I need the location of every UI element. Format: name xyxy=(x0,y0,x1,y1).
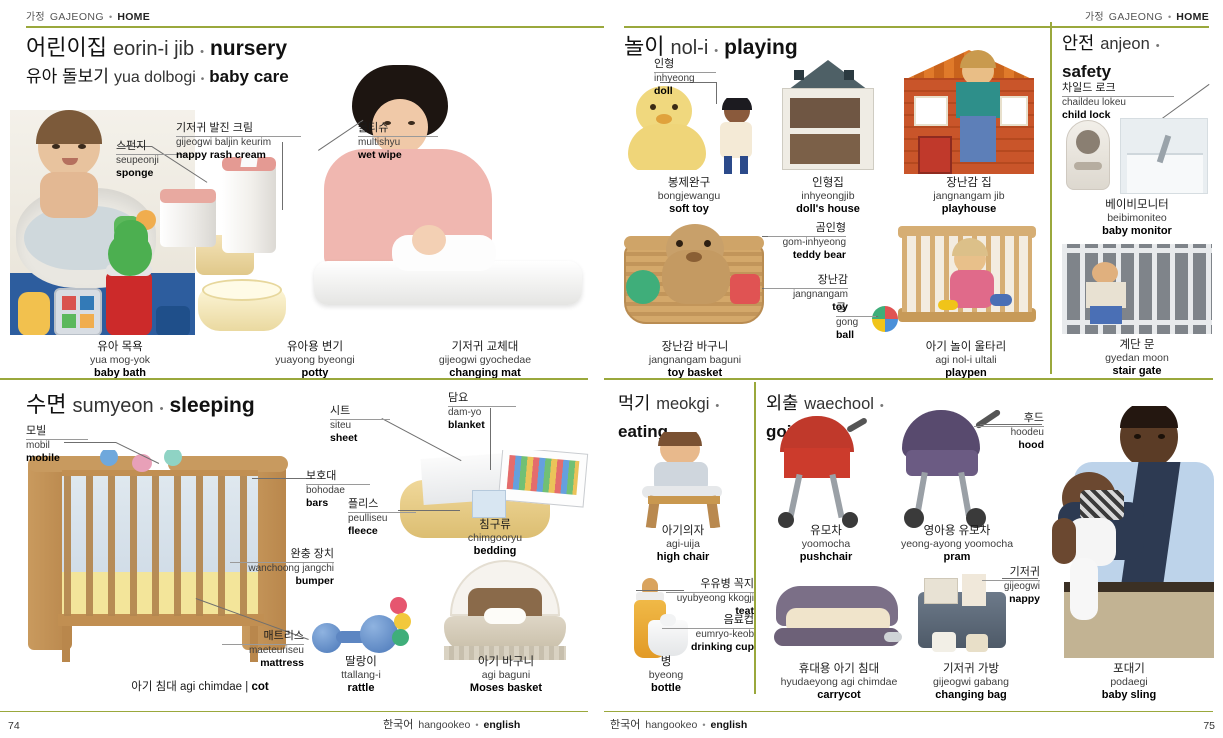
footer-left-bullet: • xyxy=(475,720,478,730)
lead-doll-korean: 인형 xyxy=(654,58,716,73)
sleeping-title-english: sleeping xyxy=(170,394,255,419)
high-chair-photo xyxy=(632,432,740,528)
dolls-house-photo xyxy=(774,60,882,172)
caption-baby-sling-romanization: podaegi xyxy=(1054,676,1204,689)
going-out-title-romanization: waechool xyxy=(804,394,874,415)
lead-bumper-english: bumper xyxy=(230,575,334,588)
lead-bumper: 완충 장치 wanchoong jangchi bumper xyxy=(230,548,334,588)
lead-toy-korean: 장난감 xyxy=(764,274,848,289)
caption-stair-gate-english: stair gate xyxy=(1062,365,1212,378)
lead-sponge-english: sponge xyxy=(116,167,186,180)
lead-blanket-english: blanket xyxy=(448,419,516,432)
lead-doll-english: doll xyxy=(654,85,716,98)
pushchair-photo xyxy=(772,416,880,528)
lead-child-lock-romanization: chaildeu lokeu xyxy=(1062,97,1174,109)
caption-changing-bag-english: changing bag xyxy=(906,689,1036,702)
lead-ball-korean: 공 xyxy=(836,302,876,317)
lead-teddy-bear-korean: 곰인형 xyxy=(768,222,846,237)
caption-bottle-romanization: byeong xyxy=(620,669,712,682)
lead-ball-english: ball xyxy=(836,329,876,342)
caption-cot-romanization: agi chimdae xyxy=(180,681,242,693)
right-section-divider xyxy=(604,378,1213,380)
caption-soft-toy-english: soft toy xyxy=(624,203,754,216)
lead-nappy-romanization: gijeogwi xyxy=(982,581,1040,593)
caption-dolls-house: 인형집 inhyeongjib doll's house xyxy=(764,176,892,216)
page-spread: 가정 GAJEONG • HOME 어린이집 eorin-i jib • nur… xyxy=(0,0,1223,738)
caption-playhouse-romanization: jangnangam jib xyxy=(902,190,1036,203)
running-head-left: 가정 GAJEONG • HOME xyxy=(26,8,604,23)
rattle-photo xyxy=(310,595,420,657)
caption-potty-korean: 유아용 변기 xyxy=(255,340,375,354)
footer-right-romanization: hangookeo xyxy=(645,719,697,731)
lead-mobile: 모빌 mobil mobile xyxy=(26,425,88,465)
caption-pushchair: 유모차 yoomocha pushchair xyxy=(766,524,886,564)
caption-changing-mat: 기저귀 교체대 gijeogwi gyochedae changing mat xyxy=(415,340,555,380)
lead-fleece: 플리스 peulliseu fleece xyxy=(348,498,416,538)
caption-baby-bath-korean: 유아 목욕 xyxy=(60,340,180,354)
running-head-right: 가정 GAJEONG • HOME xyxy=(624,8,1209,23)
lead-ball-romanization: gong xyxy=(836,317,876,329)
playing-title-english: playing xyxy=(724,36,798,61)
caption-playpen-korean: 아기 놀이 울타리 xyxy=(886,340,1046,354)
caption-baby-sling: 포대기 podaegi baby sling xyxy=(1054,662,1204,702)
caption-soft-toy-korean: 봉제완구 xyxy=(624,176,754,190)
lead-teddy-bear-english: teddy bear xyxy=(768,249,846,262)
babycare-subtitle-bullet: • xyxy=(201,74,205,86)
lead-drinking-cup-english: drinking cup xyxy=(662,641,754,654)
lead-sheet-romanization: siteu xyxy=(330,420,390,432)
caption-baby-monitor-romanization: beibimoniteo xyxy=(1062,212,1212,225)
caption-baby-sling-korean: 포대기 xyxy=(1054,662,1204,676)
left-section-divider xyxy=(0,378,588,380)
playing-title-korean: 놀이 xyxy=(624,34,664,60)
caption-cot-english: cot xyxy=(251,681,268,693)
lead-toy-romanization: jangnangam xyxy=(764,289,848,301)
moses-basket-photo xyxy=(440,560,570,665)
playing-title-bullet: • xyxy=(714,45,718,58)
caption-pushchair-english: pushchair xyxy=(766,551,886,564)
lead-cream-english: nappy rash cream xyxy=(176,149,301,162)
lead-child-lock-korean: 차일드 로크 xyxy=(1062,82,1174,97)
caption-stair-gate-korean: 계단 문 xyxy=(1062,338,1212,352)
lead-sheet-korean: 시트 xyxy=(330,405,390,420)
runhead-korean: 가정 xyxy=(26,8,45,23)
nursery-title-korean: 어린이집 xyxy=(26,35,107,61)
babycare-subtitle-korean: 유아 돌보기 xyxy=(26,67,109,87)
eating-title-bullet: • xyxy=(715,400,719,414)
runhead-romanization: GAJEONG xyxy=(50,11,104,23)
lead-sheet: 시트 siteu sheet xyxy=(330,405,390,445)
caption-dolls-house-korean: 인형집 xyxy=(764,176,892,190)
lead-blanket-romanization: dam-yo xyxy=(448,407,516,419)
lead-mattress-romanization: maeteuriseu xyxy=(222,645,304,657)
caption-rattle: 딸랑이 ttallang-i rattle xyxy=(305,655,417,695)
caption-high-chair-romanization: agi-uija xyxy=(620,538,746,551)
lead-hood: 후드 hoodeu hood xyxy=(974,412,1044,452)
lead-bars-romanization: bohodae xyxy=(306,485,370,497)
caption-bottle-korean: 병 xyxy=(620,655,712,669)
lead-fleece-romanization: peulliseu xyxy=(348,513,416,525)
doll-photo xyxy=(712,98,760,174)
caption-pram: 영아용 유모차 yeong-ayong yoomocha pram xyxy=(882,524,1032,564)
child-lock-photo xyxy=(1120,118,1208,194)
caption-dolls-house-english: doll's house xyxy=(764,203,892,216)
caption-playhouse: 장난감 집 jangnangam jib playhouse xyxy=(902,176,1036,216)
caption-carrycot: 휴대용 아기 침대 hyudaeyong agi chimdae carryco… xyxy=(764,662,914,702)
caption-high-chair-korean: 아기의자 xyxy=(620,524,746,538)
safety-title-english: safety xyxy=(1062,61,1212,82)
lead-teat: 우유병 꼭지 uyubyeong kkogji teat xyxy=(666,578,754,618)
eating-title-korean: 먹기 xyxy=(618,393,650,415)
caption-rattle-romanization: ttallang-i xyxy=(305,669,417,682)
runhead-right-bullet: • xyxy=(1168,12,1171,22)
caption-baby-sling-english: baby sling xyxy=(1054,689,1204,702)
runhead-right-english: HOME xyxy=(1176,11,1209,23)
footer-rule-right xyxy=(604,711,1213,713)
caption-moses-basket: 아기 바구니 agi baguni Moses basket xyxy=(440,655,572,695)
page-number-right: 75 xyxy=(1203,720,1215,732)
caption-changing-bag-romanization: gijeogwi gabang xyxy=(906,676,1036,689)
caption-pram-romanization: yeong-ayong yoomocha xyxy=(882,538,1032,551)
caption-potty: 유아용 변기 yuayong byeongi potty xyxy=(255,340,375,380)
lead-teat-korean: 우유병 꼭지 xyxy=(666,578,754,593)
changing-mat-photo xyxy=(296,65,596,337)
right-page: 가정 GAJEONG • HOME 놀이 nol-i • playing xyxy=(614,0,1223,738)
nursery-title-english: nursery xyxy=(210,37,287,62)
lead-mobile-korean: 모빌 xyxy=(26,425,88,440)
header-rule-right xyxy=(624,26,1209,28)
caption-changing-bag: 기저귀 가방 gijeogwi gabang changing bag xyxy=(906,662,1036,702)
caption-cot-korean: 아기 침대 xyxy=(131,681,177,693)
lead-nappy: 기저귀 gijeogwi nappy xyxy=(982,566,1040,606)
lead-teddy-bear-romanization: gom-inhyeong xyxy=(768,237,846,249)
lead-bars-korean: 보호대 xyxy=(306,470,370,485)
footer-label-right: 한국어 hangookeo • english xyxy=(610,716,747,732)
lead-blanket: 담요 dam-yo blanket xyxy=(448,392,516,432)
toy-basket-photo xyxy=(624,222,764,330)
caption-cot-separator: | xyxy=(245,681,248,693)
caption-rattle-korean: 딸랑이 xyxy=(305,655,417,669)
footer-label-left: 한국어 hangookeo • english xyxy=(383,716,520,732)
nursery-title-romanization: eorin-i jib xyxy=(113,38,194,62)
caption-pushchair-korean: 유모차 xyxy=(766,524,886,538)
footer-right-english: english xyxy=(711,719,748,731)
caption-dolls-house-romanization: inhyeongjib xyxy=(764,190,892,203)
caption-playhouse-korean: 장난감 집 xyxy=(902,176,1036,190)
caption-playhouse-english: playhouse xyxy=(902,203,1036,216)
runhead-english: HOME xyxy=(117,11,150,23)
caption-soft-toy-romanization: bongjewangu xyxy=(624,190,754,203)
safety-title: 안전 anjeon • safety xyxy=(1062,33,1212,82)
caption-bottle-english: bottle xyxy=(620,682,712,695)
caption-playpen-romanization: agi nol-i ultali xyxy=(886,354,1046,367)
lead-nappy-rash-cream: 기저귀 발진 크림 gijeogwi baljin keurim nappy r… xyxy=(176,122,301,162)
caption-potty-romanization: yuayong byeongi xyxy=(255,354,375,367)
caption-soft-toy: 봉제완구 bongjewangu soft toy xyxy=(624,176,754,216)
lead-teat-romanization: uyubyeong kkogji xyxy=(666,593,754,605)
runhead-bullet: • xyxy=(109,12,112,22)
babycare-subtitle-romanization: yua dolbogi xyxy=(114,68,196,87)
lead-bumper-romanization: wanchoong jangchi xyxy=(230,563,334,575)
lead-drinking-cup-romanization: eumryo-keob xyxy=(662,629,754,641)
lead-child-lock: 차일드 로크 chaildeu lokeu child lock xyxy=(1062,82,1174,122)
caption-bedding-romanization: chimgooryu xyxy=(435,532,555,545)
page-number-right-value: 75 xyxy=(1203,720,1215,732)
caption-playpen: 아기 놀이 울타리 agi nol-i ultali playpen xyxy=(886,340,1046,380)
nursery-title-bullet: • xyxy=(200,46,204,59)
lead-wetwipe-romanization: multishyu xyxy=(358,137,438,149)
lead-wet-wipe: 물티슈 multishyu wet wipe xyxy=(358,122,438,162)
potty-photo xyxy=(196,275,288,337)
caption-bedding: 침구류 chimgooryu bedding xyxy=(435,518,555,558)
stair-gate-photo xyxy=(1062,244,1212,334)
sleeping-title-bullet: • xyxy=(160,403,164,416)
caption-baby-bath: 유아 목욕 yua mog-yok baby bath xyxy=(60,340,180,380)
footer-left-korean: 한국어 xyxy=(383,716,413,732)
babycare-subtitle-english: baby care xyxy=(209,67,288,87)
page-number-left-value: 74 xyxy=(8,720,20,732)
lead-doll-romanization: inhyeong xyxy=(654,73,716,85)
nappy-rash-cream-photo xyxy=(160,185,216,247)
caption-stair-gate-romanization: gyedan moon xyxy=(1062,352,1212,365)
lead-hood-korean: 후드 xyxy=(974,412,1044,427)
caption-carrycot-english: carrycot xyxy=(764,689,914,702)
lead-nappy-korean: 기저귀 xyxy=(982,566,1040,581)
safety-title-bullet: • xyxy=(1156,40,1160,54)
sleeping-title-korean: 수면 xyxy=(26,392,66,418)
caption-baby-monitor-english: baby monitor xyxy=(1062,225,1212,238)
runhead-right-korean: 가정 xyxy=(1085,8,1104,23)
caption-changing-bag-korean: 기저귀 가방 xyxy=(906,662,1036,676)
caption-baby-monitor: 베이비모니터 beibimoniteo baby monitor xyxy=(1062,198,1212,238)
caption-bedding-english: bedding xyxy=(435,545,555,558)
lead-mobile-english: mobile xyxy=(26,452,88,465)
lead-nappy-english: nappy xyxy=(982,593,1040,606)
caption-moses-basket-romanization: agi baguni xyxy=(440,669,572,682)
caption-baby-bath-romanization: yua mog-yok xyxy=(60,354,180,367)
nursery-title: 어린이집 eorin-i jib • nursery xyxy=(26,35,604,62)
sleeping-title: 수면 sumyeon • sleeping xyxy=(26,392,255,419)
caption-changing-mat-korean: 기저귀 교체대 xyxy=(415,340,555,354)
leader-bars xyxy=(252,478,307,479)
lead-mattress: 매트리스 maeteuriseu mattress xyxy=(222,630,304,670)
caption-high-chair: 아기의자 agi-uija high chair xyxy=(620,524,746,564)
caption-carrycot-korean: 휴대용 아기 침대 xyxy=(764,662,914,676)
carrycot-photo xyxy=(772,582,902,656)
going-out-title-korean: 외출 xyxy=(766,393,798,415)
caption-moses-basket-english: Moses basket xyxy=(440,682,572,695)
lead-drinking-cup: 음료컵 eumryo-keob drinking cup xyxy=(662,614,754,654)
lead-doll: 인형 inhyeong doll xyxy=(654,58,716,98)
caption-baby-monitor-korean: 베이비모니터 xyxy=(1062,198,1212,212)
baby-sling-photo xyxy=(1034,406,1214,658)
going-out-title-bullet: • xyxy=(880,400,884,414)
caption-cot: 아기 침대 agi chimdae | cot xyxy=(90,678,310,694)
lead-blanket-korean: 담요 xyxy=(448,392,516,407)
lead-hood-romanization: hoodeu xyxy=(974,427,1044,439)
playhouse-photo xyxy=(904,50,1034,174)
caption-bottle: 병 byeong bottle xyxy=(620,655,712,695)
caption-rattle-english: rattle xyxy=(305,682,417,695)
lead-cream-korean: 기저귀 발진 크림 xyxy=(176,122,301,137)
caption-toy-basket-korean: 장난감 바구니 xyxy=(622,340,768,354)
lead-mobile-romanization: mobil xyxy=(26,440,88,452)
eating-column-divider xyxy=(754,382,756,694)
safety-column-divider xyxy=(1050,22,1052,374)
playpen-photo xyxy=(892,222,1042,332)
lead-mattress-korean: 매트리스 xyxy=(222,630,304,645)
caption-stair-gate: 계단 문 gyedan moon stair gate xyxy=(1062,338,1212,378)
lead-wetwipe-english: wet wipe xyxy=(358,149,438,162)
caption-toy-basket-romanization: jangnangam baguni xyxy=(622,354,768,367)
footer-rule-left xyxy=(0,711,588,713)
safety-title-romanization: anjeon xyxy=(1100,34,1150,55)
caption-high-chair-english: high chair xyxy=(620,551,746,564)
safety-title-korean: 안전 xyxy=(1062,33,1094,55)
sleeping-title-romanization: sumyeon xyxy=(72,395,153,419)
left-page: 가정 GAJEONG • HOME 어린이집 eorin-i jib • nur… xyxy=(0,0,614,738)
caption-toy-basket: 장난감 바구니 jangnangam baguni toy basket xyxy=(622,340,768,380)
eating-title-romanization: meokgi xyxy=(656,394,709,415)
caption-bedding-korean: 침구류 xyxy=(435,518,555,532)
lead-mattress-english: mattress xyxy=(222,657,304,670)
footer-left-romanization: hangookeo xyxy=(418,719,470,731)
caption-pushchair-romanization: yoomocha xyxy=(766,538,886,551)
lead-hood-english: hood xyxy=(974,439,1044,452)
lead-wetwipe-korean: 물티슈 xyxy=(358,122,438,137)
caption-moses-basket-korean: 아기 바구니 xyxy=(440,655,572,669)
lead-fleece-korean: 플리스 xyxy=(348,498,416,513)
footer-left-english: english xyxy=(484,719,521,731)
header-rule-left xyxy=(26,26,604,28)
footer-right-korean: 한국어 xyxy=(610,716,640,732)
footer-right-bullet: • xyxy=(702,720,705,730)
leader-doll-v xyxy=(716,82,717,104)
page-number-left: 74 xyxy=(8,720,20,732)
lead-bumper-korean: 완충 장치 xyxy=(230,548,334,563)
lead-ball: 공 gong ball xyxy=(836,302,876,342)
caption-pram-korean: 영아용 유모차 xyxy=(882,524,1032,538)
caption-pram-english: pram xyxy=(882,551,1032,564)
baby-monitor-photo xyxy=(1062,120,1114,192)
lead-fleece-english: fleece xyxy=(348,525,416,538)
lead-cream-romanization: gijeogwi baljin keurim xyxy=(176,137,301,149)
lead-drinking-cup-korean: 음료컵 xyxy=(662,614,754,629)
runhead-right-romanization: GAJEONG xyxy=(1109,11,1163,23)
caption-changing-mat-romanization: gijeogwi gyochedae xyxy=(415,354,555,367)
lead-teddy-bear: 곰인형 gom-inhyeong teddy bear xyxy=(768,222,846,262)
caption-carrycot-romanization: hyudaeyong agi chimdae xyxy=(764,676,914,689)
soft-toy-photo xyxy=(626,86,712,170)
lead-sheet-english: sheet xyxy=(330,432,390,445)
